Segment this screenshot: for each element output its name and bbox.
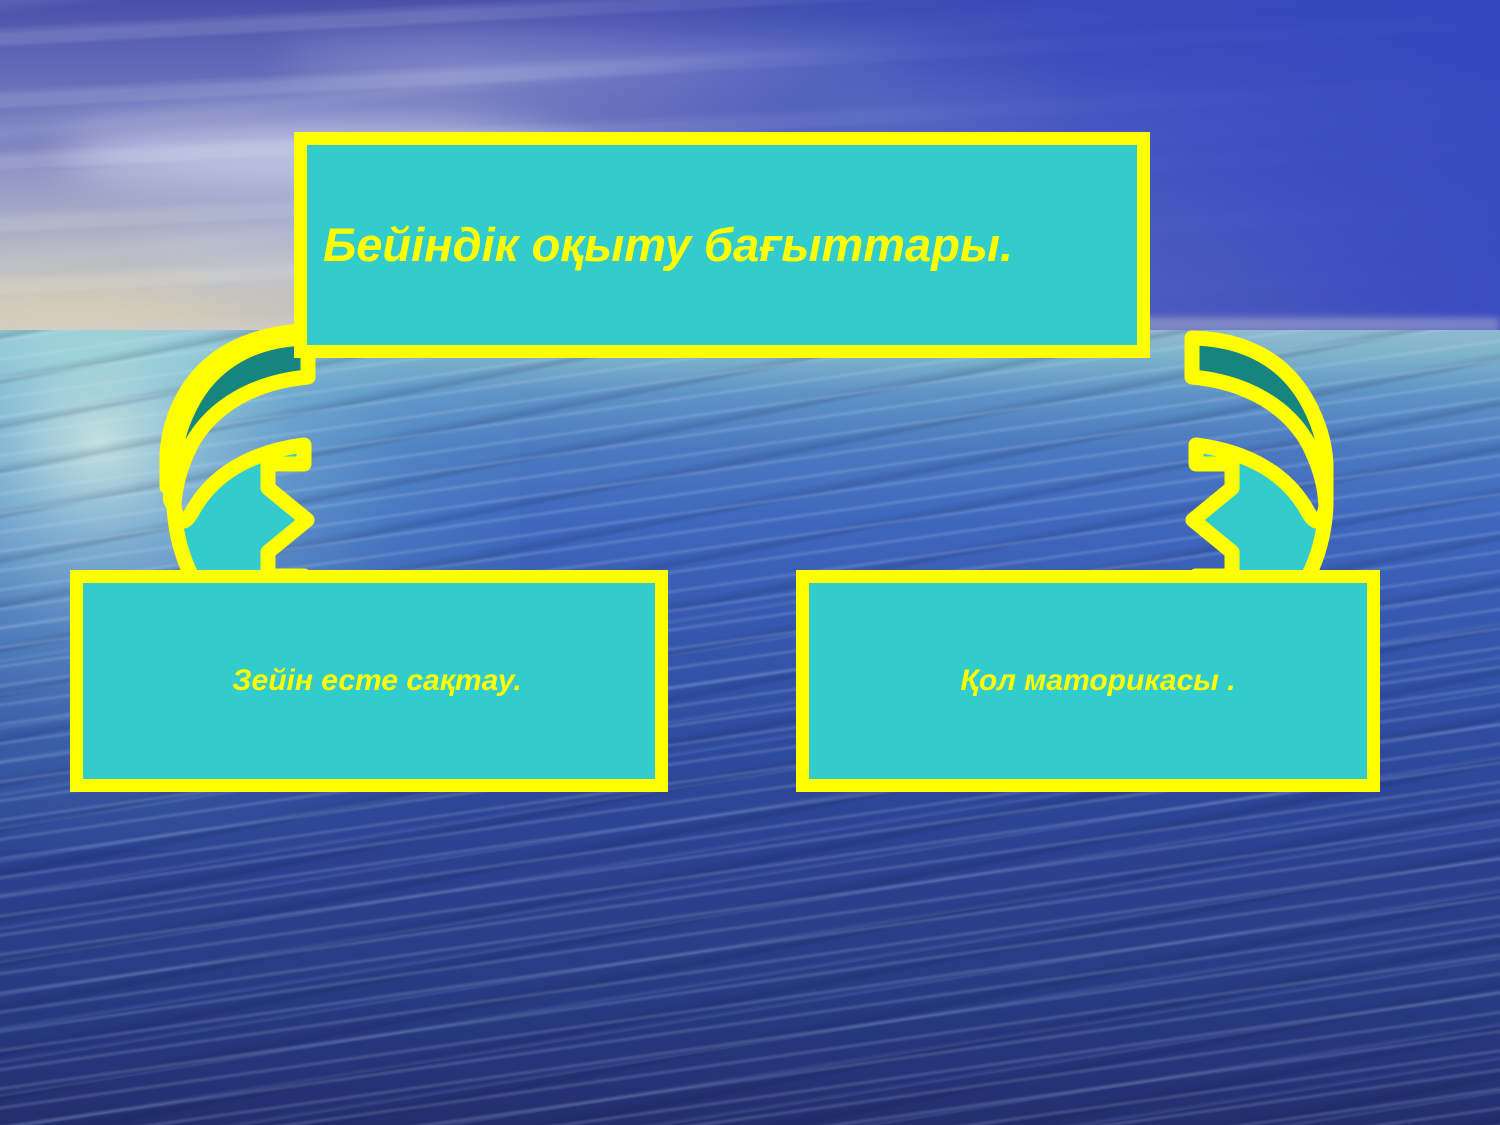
title-box[interactable]: Бейіндік оқыту бағыттары. <box>294 132 1150 358</box>
title-box-label: Бейіндік оқыту бағыттары. <box>307 218 1137 272</box>
presentation-slide: Бейіндік оқыту бағыттары. Зейін есте сақ… <box>0 0 1500 1125</box>
branch-box-left-label: Зейін есте сақтау. <box>83 664 655 699</box>
branch-box-right-label: Қол маторикасы . <box>809 664 1367 699</box>
branch-box-right[interactable]: Қол маторикасы . <box>796 570 1380 792</box>
branch-box-left[interactable]: Зейін есте сақтау. <box>70 570 668 792</box>
